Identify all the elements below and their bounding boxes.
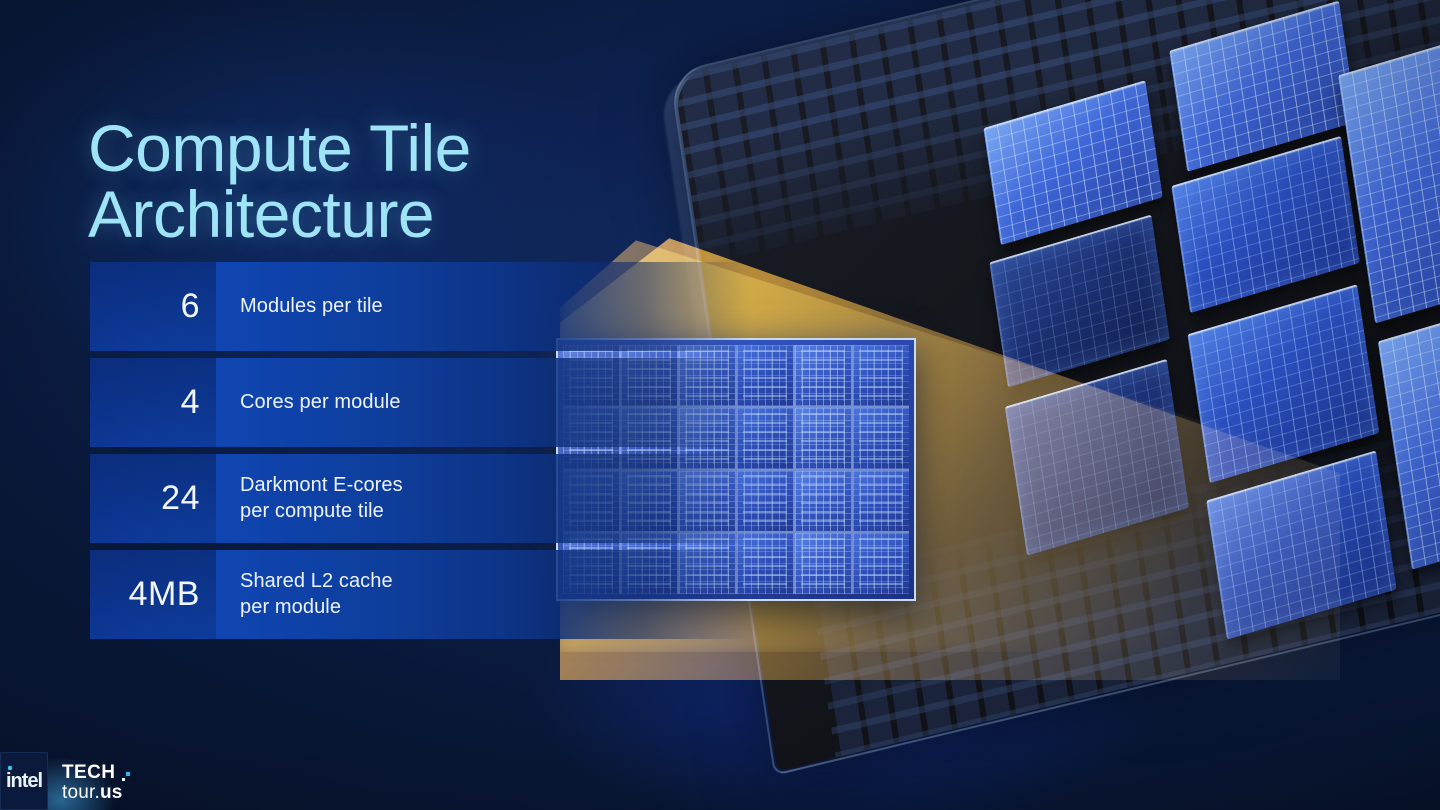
spec-label-line-1: Shared L2 cache xyxy=(240,570,393,592)
tech-tour-top-line: TECH xyxy=(62,763,115,782)
logo-bar: intel TECH tour.us xyxy=(0,752,123,810)
spec-row-shared-l2-cache: 4MB Shared L2 cache per module xyxy=(90,550,750,639)
spec-label-line-2: per module xyxy=(240,595,393,621)
spec-label-line-1: Modules per tile xyxy=(240,295,383,317)
tech-tour-accent-icon xyxy=(121,772,130,781)
page-title: Compute Tile Architecture xyxy=(88,116,608,247)
spec-row-modules-per-tile: 6 Modules per tile xyxy=(90,262,750,351)
spec-row-darkmont-e-cores: 24 Darkmont E-cores per compute tile xyxy=(90,454,750,543)
tech-tour-tech-text: TECH xyxy=(62,762,115,783)
spec-value: 6 xyxy=(90,287,216,326)
spec-list: 6 Modules per tile 4 Cores per module 24… xyxy=(90,262,750,646)
spec-label-line-2: per compute tile xyxy=(240,499,403,525)
spec-value: 4MB xyxy=(90,575,216,614)
intel-logo-text: intel xyxy=(6,770,42,792)
intel-i-dot-icon xyxy=(8,766,12,770)
spec-label: Darkmont E-cores per compute tile xyxy=(216,473,403,524)
spec-value: 24 xyxy=(90,479,216,518)
spec-value: 4 xyxy=(90,383,216,422)
intel-logo: intel xyxy=(0,752,48,810)
spec-label: Shared L2 cache per module xyxy=(216,569,393,620)
title-line-1: Compute Tile xyxy=(88,111,471,185)
tech-tour-logo: TECH tour.us xyxy=(48,763,123,810)
accent-square-blue xyxy=(126,772,130,776)
title-line-2: Architecture xyxy=(88,182,608,247)
accent-square-white xyxy=(122,778,125,781)
spec-label-line-1: Darkmont E-cores xyxy=(240,474,403,496)
intel-wordmark: intel xyxy=(6,771,42,791)
tech-tour-bottom-line: tour.us xyxy=(62,783,123,802)
spec-label: Cores per module xyxy=(216,390,401,416)
spec-label-line-1: Cores per module xyxy=(240,391,401,413)
slide-compute-tile-architecture: Compute Tile Architecture 6 Modules per … xyxy=(0,0,1440,810)
tech-tour-tour-text: tour. xyxy=(62,782,100,803)
spec-label: Modules per tile xyxy=(216,294,383,320)
tech-tour-us-text: us xyxy=(100,782,123,803)
spec-row-cores-per-module: 4 Cores per module xyxy=(90,358,750,447)
